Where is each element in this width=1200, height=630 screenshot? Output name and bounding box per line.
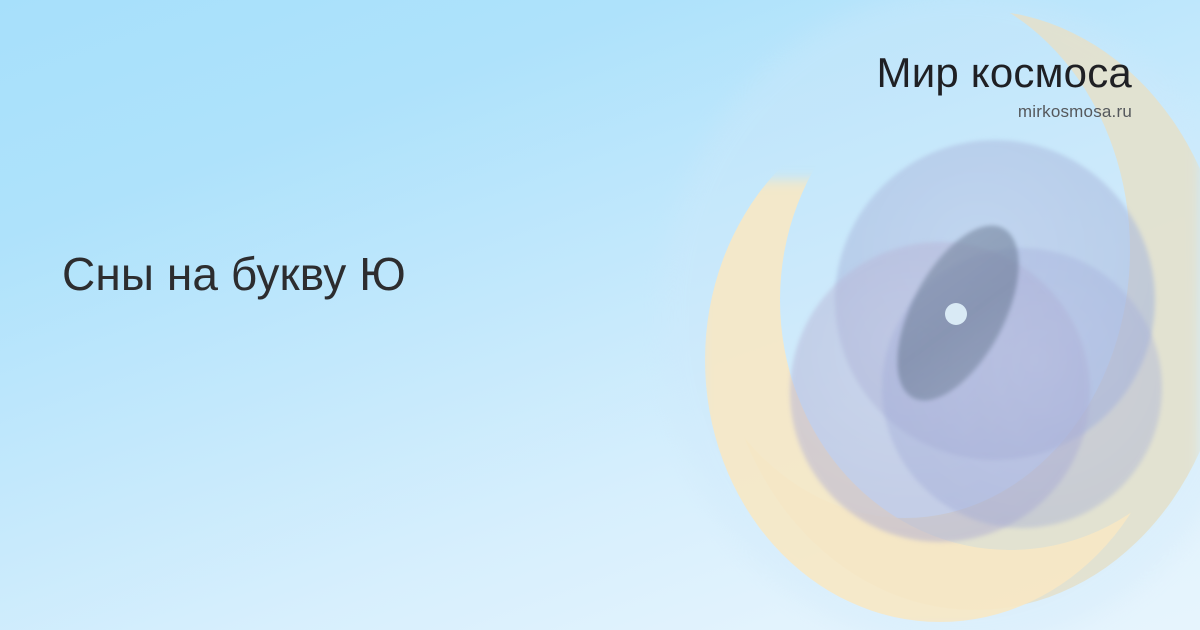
- circle-top-shape: [835, 140, 1155, 460]
- site-url: mirkosmosa.ru: [877, 103, 1132, 120]
- site-logo[interactable]: Мир космоса mirkosmosa.ru: [877, 52, 1132, 120]
- cream-crescent-warm-shape: [700, 180, 1200, 630]
- site-name: Мир космоса: [877, 52, 1132, 94]
- poster-canvas: Сны на букву Ю Мир космоса mirkosmosa.ru: [0, 0, 1200, 630]
- circle-left-shape: [790, 242, 1090, 542]
- core-ellipse-shape: [872, 207, 1043, 420]
- core-dot-shape: [945, 303, 967, 325]
- circle-right-shape: [882, 248, 1162, 528]
- page-title: Сны на букву Ю: [62, 249, 406, 301]
